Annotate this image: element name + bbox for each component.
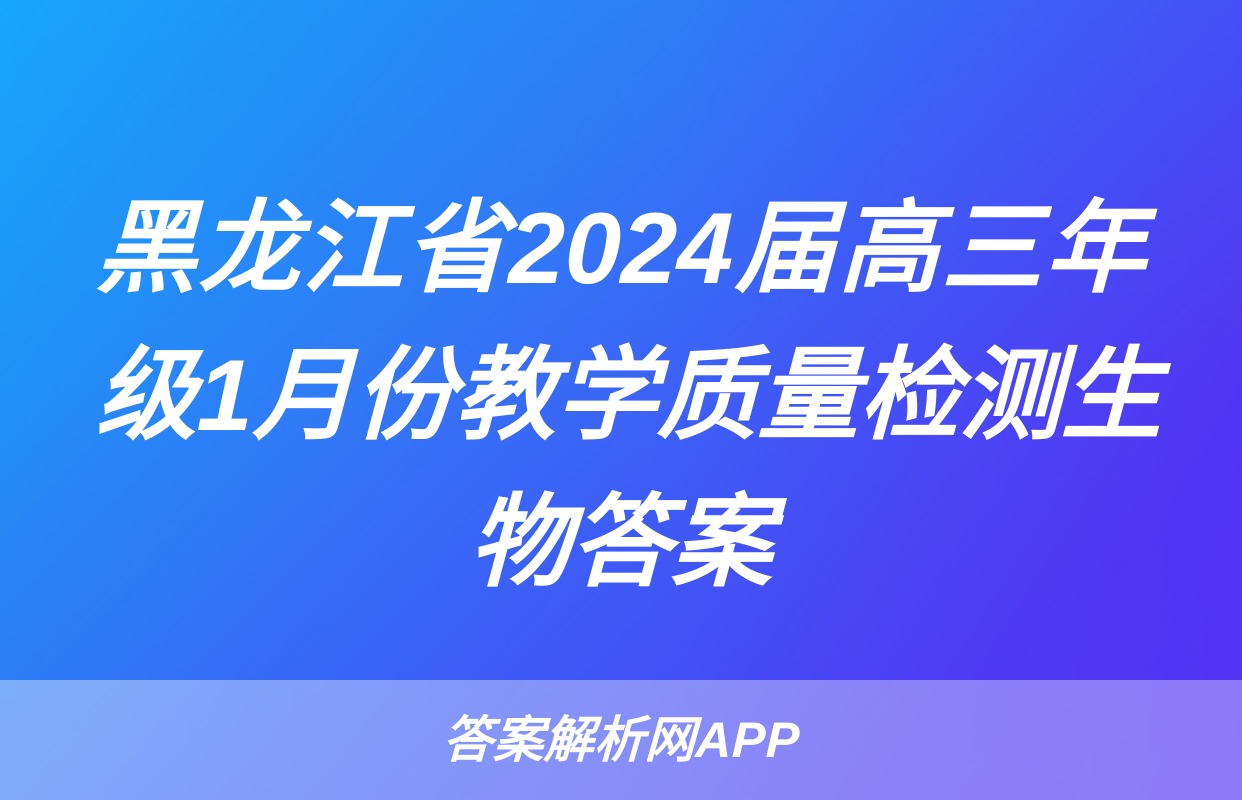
footer-brand-band: 答案解析网APP — [0, 680, 1242, 800]
title-line-1: 黑龙江省2024届高三年 — [95, 176, 1148, 323]
answer-share-card: 黑龙江省2024届高三年 级1月份教学质量检测生 物答案 答案解析网APP — [0, 0, 1242, 800]
title-line-2: 级1月份教学质量检测生 — [95, 323, 1148, 470]
title-line-3: 物答案 — [95, 470, 1148, 617]
footer-brand-label: 答案解析网APP — [442, 715, 801, 765]
page-title: 黑龙江省2024届高三年 级1月份教学质量检测生 物答案 — [0, 176, 1242, 617]
